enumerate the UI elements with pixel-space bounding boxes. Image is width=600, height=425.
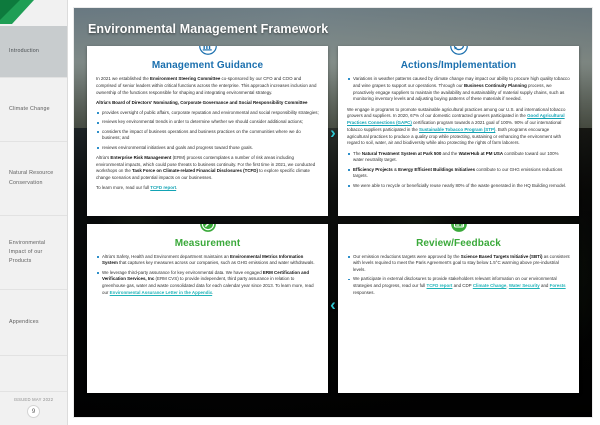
card-title: Actions/Implementation: [347, 60, 570, 71]
card-body: Altria's Safety, Health and Environment …: [96, 254, 319, 297]
card-title: Review/Feedback: [347, 238, 570, 249]
cdp-forests-link[interactable]: Forests: [550, 283, 566, 288]
gears-arrow-icon: [448, 46, 470, 57]
list-item: reviews key environmental trends in orde…: [96, 119, 319, 126]
list-item: Altria's Safety, Health and Environment …: [96, 254, 319, 268]
actions-bottom-bullet-list: The Natural Treatment System at Park 500…: [347, 151, 570, 190]
sidebar-item-introduction[interactable]: Introduction: [0, 26, 67, 78]
list-item: We were able to recycle or beneficially …: [347, 183, 570, 190]
learn-more-suffix: .: [176, 185, 177, 190]
sidebar-footer: ISSUED MAY 2022 9: [0, 391, 67, 425]
card-body: In 2021 we established the Environment S…: [96, 76, 319, 192]
separator: and: [540, 283, 550, 288]
company-logo: [0, 0, 46, 26]
sidebar-item-label: Natural Resource Conservation: [9, 169, 59, 188]
sidebar-item-label: Appendices: [9, 318, 39, 327]
sidebar-item-label: Climate Change: [9, 105, 50, 114]
learn-more-line: To learn more, read our full TCFD report…: [96, 185, 319, 192]
closing-paragraph: Altria's Enterprise Risk Management (ERM…: [96, 155, 319, 182]
slide-viewer: Introduction Climate Change Natural Reso…: [0, 0, 600, 425]
agriculture-paragraph: We engage in programs to promote sustain…: [347, 107, 570, 148]
sidebar-item-environmental-impact-of-our-products[interactable]: Environmental Impact of our Products: [0, 216, 67, 290]
guidance-bullet-list: provides oversight of public affairs, co…: [96, 110, 319, 151]
actions-top-bullet-list: Variations in weather patterns caused by…: [347, 76, 570, 103]
list-item: considers the impact of business operati…: [96, 129, 319, 143]
cdp-climate-change-link[interactable]: Climate Change: [473, 283, 507, 288]
card-management-guidance: Management Guidance In 2021 we establish…: [87, 46, 328, 216]
card-title: Management Guidance: [96, 60, 319, 71]
list-item: Our emission reductions targets were app…: [347, 254, 570, 274]
page-number-badge: 9: [27, 405, 40, 418]
subheading: Altria's Board of Directors' Nominating,…: [96, 100, 319, 107]
card-measurement: Measurement Altria's Safety, Health and …: [87, 224, 328, 394]
review-bullet-list: Our emission reductions targets were app…: [347, 254, 570, 297]
gauge-meter-icon: [197, 224, 219, 235]
participate-mid: and CDP: [452, 283, 472, 288]
list-item: We participate in external disclosures t…: [347, 276, 570, 296]
sidebar-item-label: Introduction: [9, 47, 39, 56]
issued-date: ISSUED MAY 2022: [0, 397, 67, 402]
page-title: Environmental Management Framework: [88, 22, 328, 36]
sidebar-item-appendices[interactable]: Appendices: [0, 290, 67, 356]
slide: Environmental Management Framework › ⌄ ‹…: [74, 8, 592, 417]
list-item: Efficiency Projects & Energy Efficient B…: [347, 167, 570, 181]
card-review-feedback: Review/Feedback Our emission reductions …: [338, 224, 579, 394]
framework-card-grid: Management Guidance In 2021 we establish…: [87, 46, 579, 393]
list-item: provides oversight of public affairs, co…: [96, 110, 319, 117]
stp-link[interactable]: Sustainable Tobacco Program (STP): [419, 127, 495, 132]
sidebar-nav: Introduction Climate Change Natural Reso…: [0, 26, 67, 356]
slide-container: Environmental Management Framework › ⌄ ‹…: [68, 0, 600, 425]
card-body: Our emission reductions targets were app…: [347, 254, 570, 297]
sidebar-item-natural-resource-conservation[interactable]: Natural Resource Conservation: [0, 142, 67, 216]
sidebar: Introduction Climate Change Natural Reso…: [0, 0, 68, 425]
card-title: Measurement: [96, 238, 319, 249]
bank-columns-icon: [197, 46, 219, 57]
tcfd-report-link[interactable]: TCFD report: [427, 283, 453, 288]
sidebar-item-climate-change[interactable]: Climate Change: [0, 78, 67, 142]
card-actions-implementation: Actions/Implementation Variations in wea…: [338, 46, 579, 216]
list-item: We leverage third-party assurance for ke…: [96, 270, 319, 297]
list-item: The Natural Treatment System at Park 500…: [347, 151, 570, 165]
speech-bubble-arrow-icon: [448, 224, 470, 235]
list-item: Variations in weather patterns caused by…: [347, 76, 570, 103]
environmental-assurance-letter-link[interactable]: Environmental Assurance Letter in the Ap…: [110, 290, 213, 295]
participate-suffix: responses.: [353, 290, 375, 295]
list-item: reviews environmental initiatives and go…: [96, 145, 319, 152]
measurement-bullet-list: Altria's Safety, Health and Environment …: [96, 254, 319, 297]
learn-more-prefix: To learn more, read our full: [96, 185, 150, 190]
sidebar-item-label: Environmental Impact of our Products: [9, 239, 59, 267]
intro-paragraph: In 2021 we established the Environment S…: [96, 76, 319, 96]
tcfd-report-link[interactable]: TCFD report: [150, 185, 176, 190]
card-body: Variations in weather patterns caused by…: [347, 76, 570, 189]
cdp-water-security-link[interactable]: Water Security: [509, 283, 540, 288]
